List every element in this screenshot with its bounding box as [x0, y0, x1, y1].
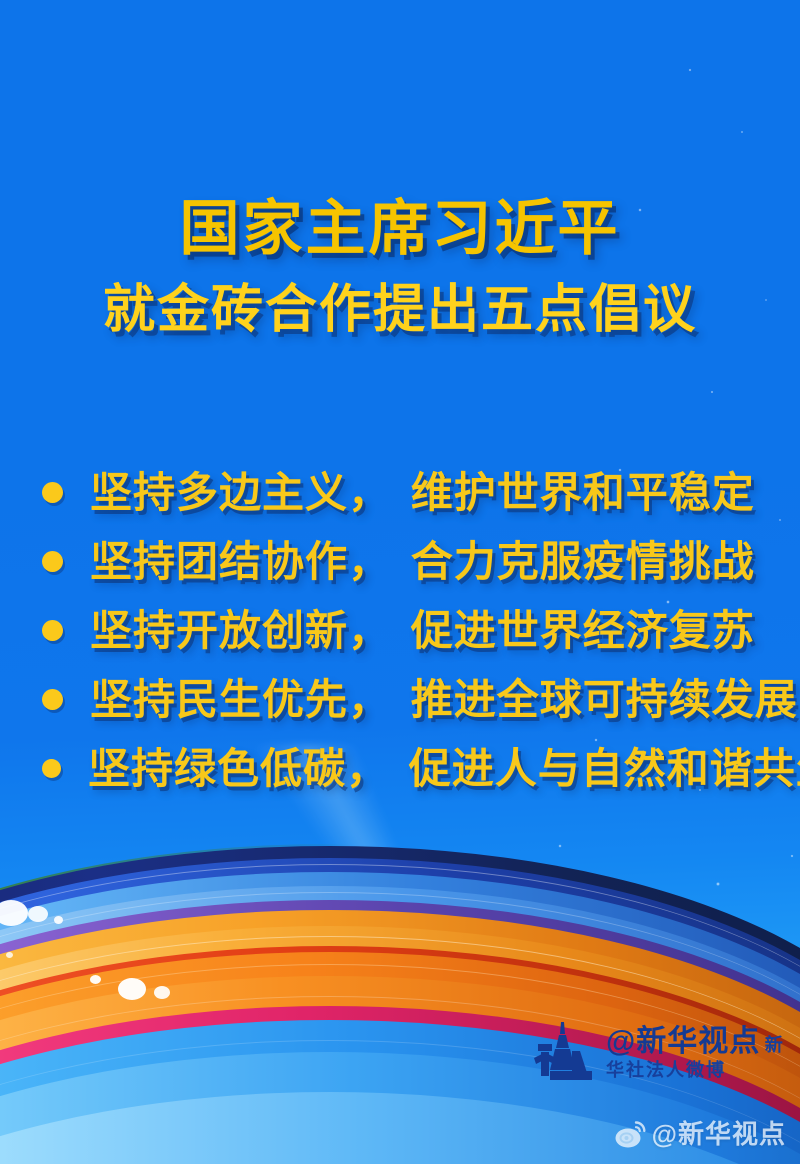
- list-item-text: 坚持开放创新， 促进世界经济复苏: [90, 607, 755, 655]
- list-item: 坚持开放创新， 促进世界经济复苏: [42, 596, 782, 665]
- bokeh-circle: [154, 986, 170, 999]
- brand-name: @新华视点: [606, 1025, 760, 1058]
- xinhua-tower-logo-icon: [528, 1018, 598, 1088]
- page-subtitle: 就金砖合作提出五点倡议: [0, 280, 800, 340]
- proposal-list: 坚持多边主义， 维护世界和平稳定 坚持团结协作， 合力克服疫情挑战 坚持开放创新…: [42, 458, 782, 803]
- bullet-dot-icon: [42, 482, 63, 503]
- bullet-dot-icon: [42, 551, 63, 572]
- bokeh-circle: [28, 906, 48, 922]
- list-item: 坚持绿色低碳， 促进人与自然和谐共生: [42, 734, 782, 803]
- list-item-text: 坚持多边主义， 维护世界和平稳定: [90, 469, 755, 517]
- bokeh-circle: [6, 952, 13, 958]
- list-item-text: 坚持团结协作， 合力克服疫情挑战: [90, 538, 755, 586]
- bokeh-circle: [54, 916, 63, 924]
- list-item: 坚持多边主义， 维护世界和平稳定: [42, 458, 782, 527]
- brand-text-block: @新华视点 新华社法人微博: [606, 1025, 800, 1081]
- bokeh-circle: [118, 978, 146, 1000]
- list-item: 坚持团结协作， 合力克服疫情挑战: [42, 527, 782, 596]
- bullet-dot-icon: [42, 759, 61, 778]
- weibo-icon: [614, 1118, 646, 1150]
- brand-lockup: @新华视点 新华社法人微博: [528, 1018, 800, 1088]
- page-title: 国家主席习近平: [0, 196, 800, 262]
- bullet-dot-icon: [42, 620, 63, 641]
- headline-block: 国家主席习近平 就金砖合作提出五点倡议: [0, 196, 800, 340]
- weibo-watermark: @新华视点: [614, 1118, 786, 1150]
- list-item: 坚持民生优先， 推进全球可持续发展: [42, 665, 782, 734]
- list-item-text: 坚持绿色低碳， 促进人与自然和谐共生: [88, 745, 800, 793]
- watermark-text: @新华视点: [652, 1119, 786, 1149]
- list-item-text: 坚持民生优先， 推进全球可持续发展: [90, 676, 798, 724]
- poster-canvas: 国家主席习近平 就金砖合作提出五点倡议 坚持多边主义， 维护世界和平稳定 坚持团…: [0, 0, 800, 1164]
- bullet-dot-icon: [42, 689, 63, 710]
- bokeh-circle: [90, 975, 101, 984]
